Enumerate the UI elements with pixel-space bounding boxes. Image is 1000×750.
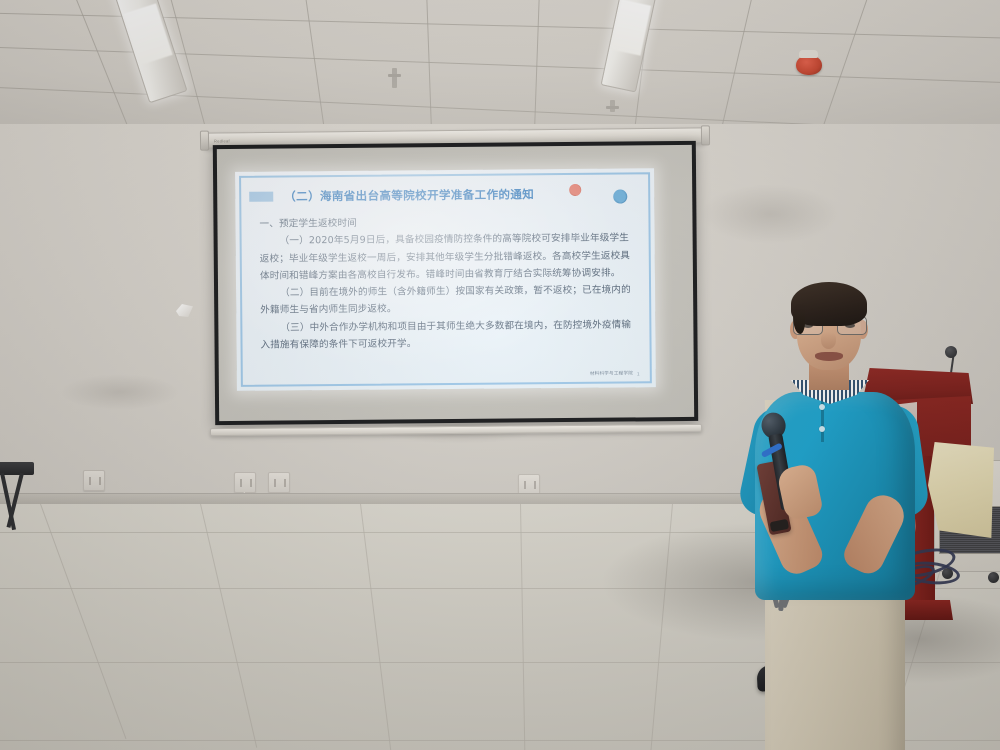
slide-title: （二）海南省出台高等院校开学准备工作的通知	[284, 186, 534, 204]
ceiling-hook-2	[610, 100, 615, 112]
housing-brand-label: Redleaf	[214, 138, 230, 143]
presentation-slide: （二）海南省出台高等院校开学准备工作的通知	[235, 168, 656, 391]
gooseneck-microphone-icon[interactable]	[941, 346, 967, 376]
projection-screen: （二）海南省出台高等院校开学准备工作的通知	[213, 141, 698, 425]
ceiling-hook	[392, 68, 397, 88]
mouth	[815, 352, 843, 361]
lecture-hall-photo: Redleaf （二）海南省出台高等院校开学准备工作的通知	[0, 0, 1000, 750]
wall-outlet-2[interactable]	[234, 472, 256, 493]
slide-footer: 材料科学与工程学院 1	[590, 370, 640, 376]
slide-footer-text: 材料科学与工程学院	[590, 370, 633, 376]
virus-blue-icon	[608, 184, 632, 208]
wall-bracket	[176, 304, 193, 317]
ceiling	[0, 0, 1000, 128]
slide-paragraph-3: （三）中外合作办学机构和项目由于其师生绝大多数都在境内，在防控境外疫情输入措施有…	[260, 316, 635, 354]
chair[interactable]	[0, 462, 40, 534]
slide-page-number: 1	[637, 371, 640, 376]
title-accent-tab	[249, 192, 273, 202]
presenter	[735, 280, 935, 750]
slide-body: 一、预定学生返校时间 （一）2020年5月9日后，具备校园疫情防控条件的高等院校…	[259, 212, 635, 354]
slide-paragraph-2: （二）目前在境外的师生（含外籍师生）按国家有关政策，暂不返校；已在境内的外籍师生…	[260, 282, 635, 320]
nose	[821, 332, 836, 349]
draped-cloth	[928, 442, 994, 538]
slide-paragraph-1: （一）2020年5月9日后，具备校园疫情防控条件的高等院校可安排毕业年级学生返校…	[260, 230, 635, 285]
virus-red-icon	[565, 180, 585, 200]
shirt-button-2	[819, 426, 825, 432]
wall-outlet-3[interactable]	[268, 472, 290, 493]
fire-sprinkler-icon	[796, 55, 822, 75]
chair-seat	[0, 462, 34, 475]
hair	[791, 282, 867, 326]
wall-outlet-1[interactable]	[83, 470, 105, 491]
wall-outlet-4[interactable]	[518, 474, 540, 495]
ceiling-light-right	[601, 0, 660, 92]
shirt-button-1	[819, 404, 825, 410]
